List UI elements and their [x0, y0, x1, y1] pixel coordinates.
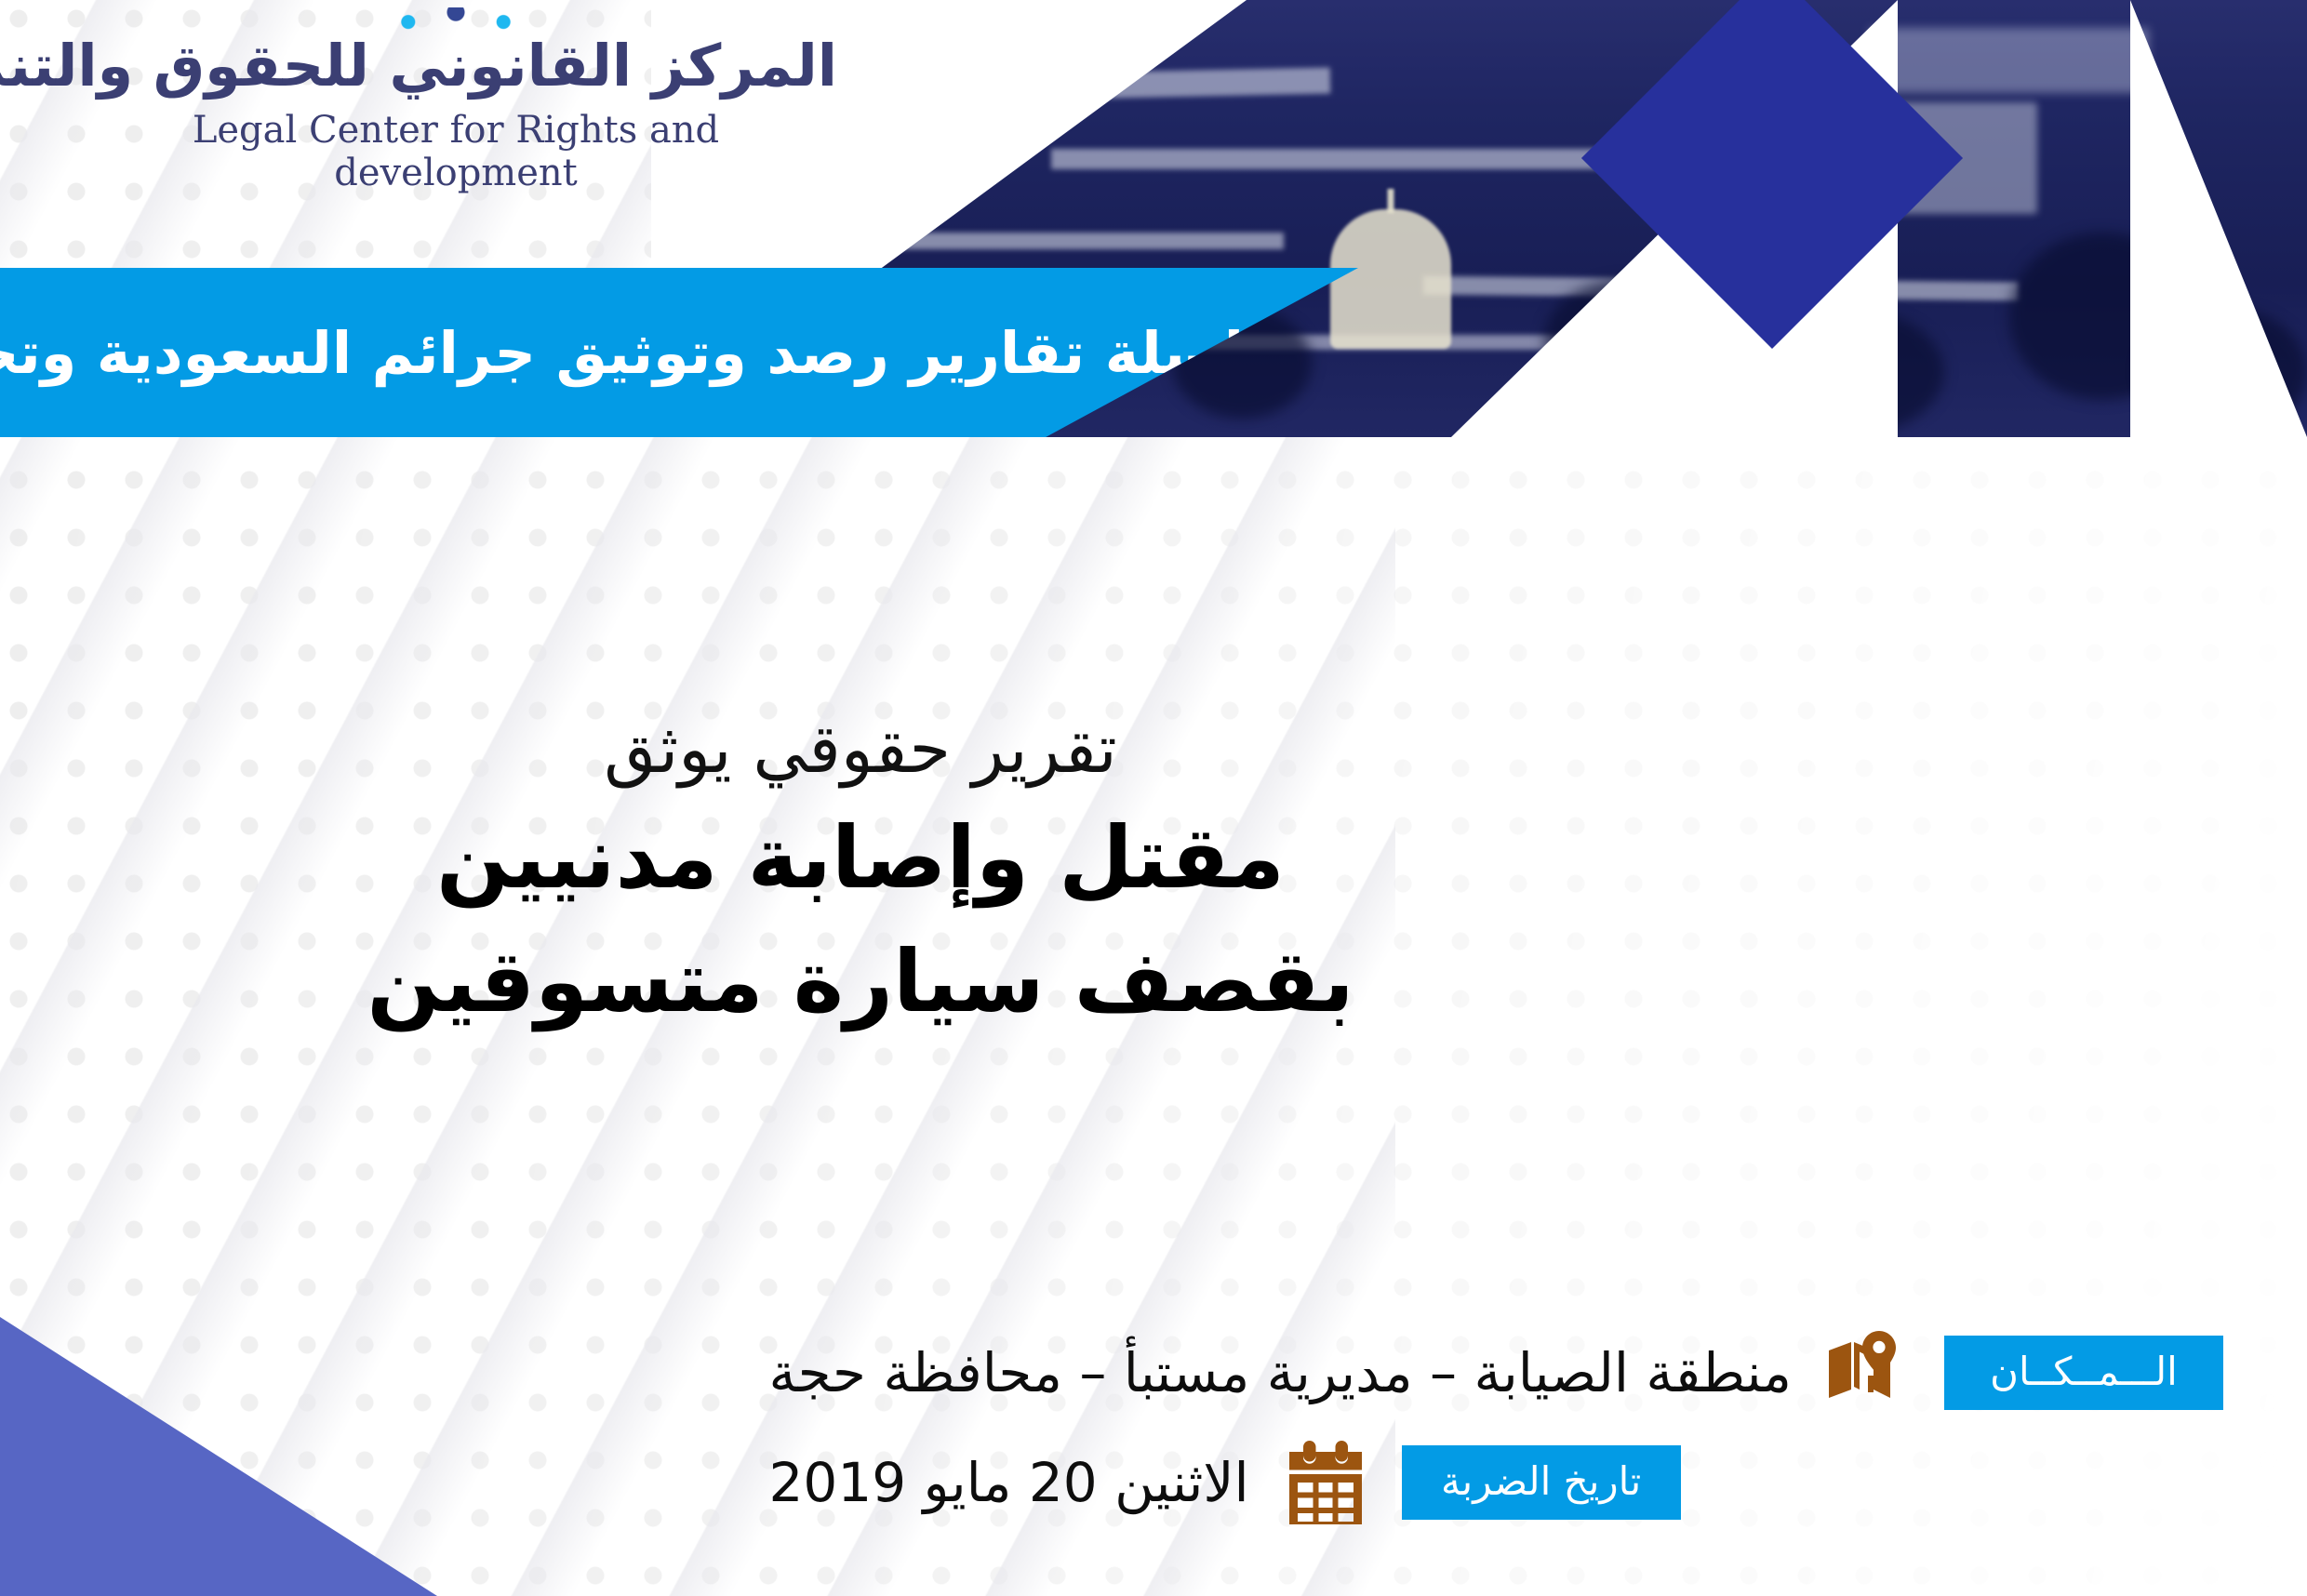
meta-row-strike-date: تاريخ الضربة الاثنين 20 مايو 2019	[745, 1438, 1681, 1527]
report-title-line-2: بقصف سيارة متسوقين	[0, 925, 1721, 1038]
logo-name-english: Legal Center for Rights and development	[74, 109, 837, 194]
logo-name-arabic: المركز القانوني للحقوق والتنمية	[74, 35, 837, 96]
meta-label-strike-date: تاريخ الضربة	[1402, 1445, 1681, 1520]
building-band	[884, 233, 1284, 249]
calendar-icon	[1281, 1438, 1370, 1527]
series-banner-text: سلسلة تقارير رصد وتوثيق جرائم السعودية و…	[0, 319, 1302, 387]
meta-value-strike-date: الاثنين 20 مايو 2019	[745, 1451, 1249, 1514]
report-title-line-1: مقتل وإصابة مدنيين	[0, 802, 1721, 914]
meta-value-place: منطقة الصيابة – مديرية مستبأ – محافظة حج…	[745, 1341, 1792, 1404]
organization-logo: المركز القانوني للحقوق والتنمية Legal Ce…	[74, 7, 837, 194]
lcrd-emblem-icon	[381, 7, 530, 32]
building-block	[1870, 28, 2149, 93]
corner-triangle-accent	[0, 1317, 437, 1596]
report-cover-page: سلسلة تقارير رصد وتوثيق جرائم السعودية و…	[0, 0, 2307, 1596]
map-location-icon	[1823, 1328, 1913, 1417]
mosque-dome	[1330, 209, 1451, 349]
report-meta-list: الـــمــكــان منطقة الصيابة – مديرية مست…	[745, 1328, 2223, 1527]
report-title-block: تقرير حقوقي يوثق مقتل وإصابة مدنيين بقصف…	[0, 707, 1721, 1039]
meta-label-place: الـــمــكــان	[1944, 1336, 2223, 1410]
meta-row-place: الـــمــكــان منطقة الصيابة – مديرية مست…	[745, 1328, 2223, 1417]
report-kicker: تقرير حقوقي يوثق	[0, 707, 1721, 791]
